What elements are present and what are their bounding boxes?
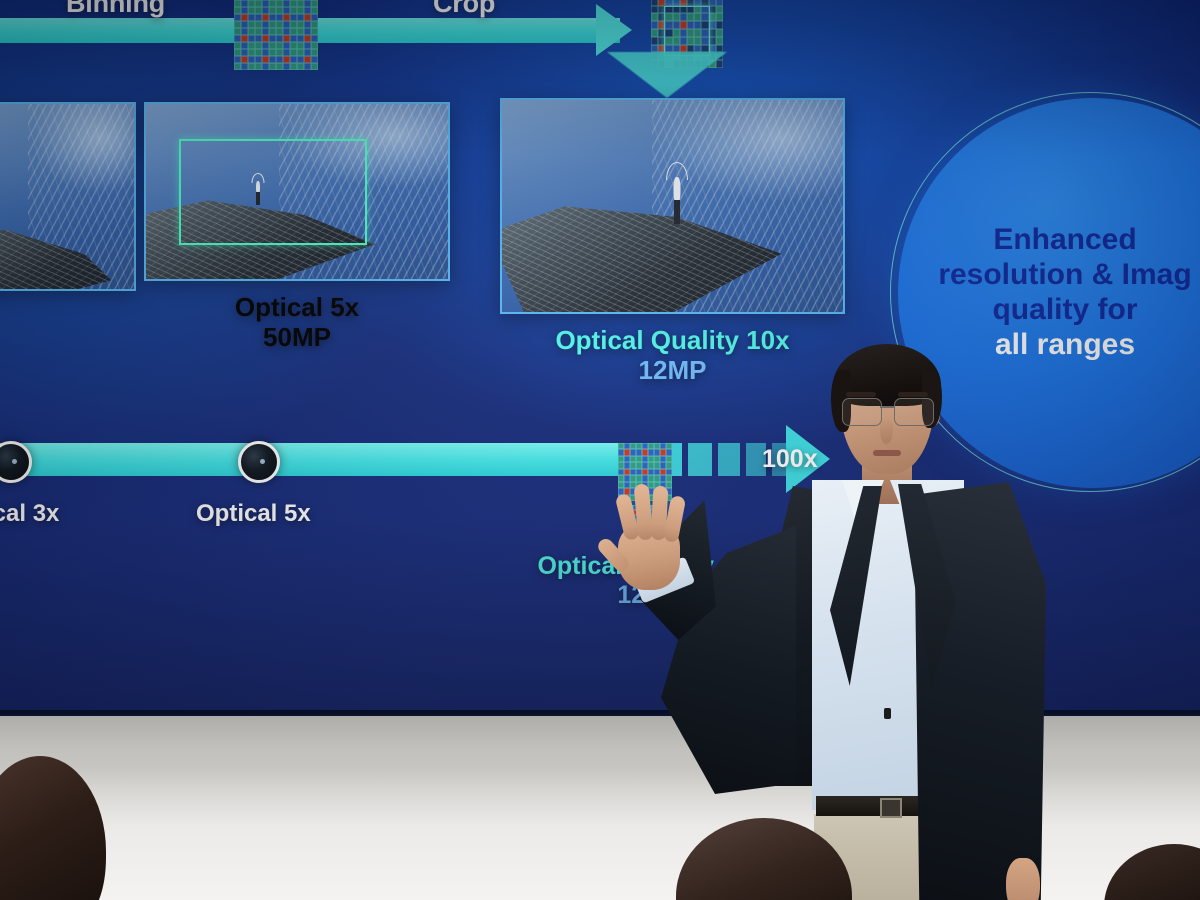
sensor-pixel: [290, 42, 297, 49]
sensor-pixel: [234, 21, 241, 28]
sensor-pixel: [241, 63, 248, 70]
zoom-tick-label-5x: Optical 5x: [196, 500, 311, 528]
sensor-pixel: [297, 63, 304, 70]
caption-line-1: Optical 5x: [144, 292, 450, 322]
sensor-pixel: [255, 7, 262, 14]
sensor-pixel: [297, 56, 304, 63]
sensor-pixel: [276, 14, 283, 21]
sensor-pixel: [311, 49, 318, 56]
sensor-pixel: [241, 42, 248, 49]
figure-legs: [674, 200, 680, 224]
lapel-mic-icon: [884, 708, 891, 719]
sensor-pixel: [276, 42, 283, 49]
hand-right: [1006, 858, 1040, 900]
sensor-pixel: [651, 6, 658, 14]
sensor-pixel: [290, 63, 297, 70]
sensor-pixel: [311, 0, 318, 7]
sensor-pixel: [716, 29, 723, 37]
sensor-pixel: [297, 7, 304, 14]
sensor-pixel: [297, 28, 304, 35]
yoga-figure: [662, 164, 692, 224]
sensor-pixel: [269, 7, 276, 14]
photo-frame: [0, 102, 136, 291]
arrow-right-icon: [596, 4, 632, 56]
sensor-pixel: [290, 35, 297, 42]
sensor-pixel: [255, 63, 262, 70]
sensor-pixel: [290, 28, 297, 35]
sensor-pixel: [234, 42, 241, 49]
sensor-pixel: [276, 0, 283, 7]
sensor-pixel: [262, 7, 269, 14]
sensor-pixel: [297, 14, 304, 21]
eyebrow-left: [846, 392, 876, 397]
nose: [880, 418, 893, 444]
zoom-tick-label-3x: tical 3x: [0, 500, 59, 528]
sensor-pixel: [283, 35, 290, 42]
camera-lens-icon: [238, 441, 280, 483]
mouth: [873, 450, 901, 456]
sensor-pixel: [311, 35, 318, 42]
sensor-pixel: [276, 63, 283, 70]
caption-line-2: 50MP: [144, 322, 450, 352]
sensor-pixel: [283, 49, 290, 56]
glasses-lens-right: [894, 398, 934, 426]
sensor-pixel: [290, 7, 297, 14]
sensor-pixel: [276, 35, 283, 42]
glasses-bridge: [880, 406, 894, 408]
eyebrow-right: [898, 392, 928, 397]
sensor-pixel: [283, 21, 290, 28]
sensor-pixel: [304, 21, 311, 28]
cliff-sea-photo: [502, 100, 843, 312]
bayer-sensor-grid-icon: [234, 0, 318, 70]
sensor-pixel: [283, 28, 290, 35]
sensor-pixel: [269, 28, 276, 35]
zoom-range-bar: [0, 443, 634, 476]
sensor-pixel: [290, 49, 297, 56]
sensor-pixel: [651, 29, 658, 37]
sensor-pixel: [241, 21, 248, 28]
sensor-pixel: [651, 37, 658, 45]
sensor-pixel: [248, 7, 255, 14]
sensor-pixel: [262, 56, 269, 63]
sensor-pixel: [234, 28, 241, 35]
sensor-pixel: [248, 42, 255, 49]
raised-hand-icon: [608, 478, 694, 590]
sensor-pixel: [248, 0, 255, 7]
sensor-pixel: [297, 42, 304, 49]
sensor-pixel: [311, 56, 318, 63]
sensor-pixel: [297, 21, 304, 28]
sensor-pixel: [262, 35, 269, 42]
belt-buckle: [880, 798, 902, 818]
sensor-pixel: [269, 14, 276, 21]
sensor-pixel: [311, 63, 318, 70]
photo-caption: Optical 5x 50MP: [144, 292, 450, 352]
sensor-pixel: [283, 14, 290, 21]
sensor-pixel: [262, 28, 269, 35]
sensor-pixel: [255, 0, 262, 7]
sensor-pixel: [311, 14, 318, 21]
photo-frame: [144, 102, 450, 281]
sensor-pixel: [297, 49, 304, 56]
sensor-pixel: [269, 63, 276, 70]
sensor-pixel: [297, 35, 304, 42]
sensor-pixel: [269, 49, 276, 56]
sensor-pixel: [234, 0, 241, 7]
sensor-pixel: [234, 7, 241, 14]
sensor-pixel: [248, 28, 255, 35]
sample-photo-optical-5x: Optical 5x 50MP: [144, 102, 450, 352]
sensor-pixel: [269, 42, 276, 49]
sensor-pixel: [255, 56, 262, 63]
sensor-pixel: [255, 28, 262, 35]
sensor-pixel: [255, 21, 262, 28]
sensor-pixel: [234, 49, 241, 56]
sensor-pixel: [304, 42, 311, 49]
glasses-lens-left: [842, 398, 882, 426]
sensor-pixel: [716, 21, 723, 29]
crop-highlight-box: [664, 6, 710, 56]
sensor-pixel: [241, 28, 248, 35]
sensor-pixel: [651, 13, 658, 21]
presenter: [590, 330, 1090, 900]
sensor-pixel: [283, 0, 290, 7]
sensor-pixel: [276, 21, 283, 28]
sensor-pixel: [304, 63, 311, 70]
sensor-pixel: [234, 35, 241, 42]
sensor-pixel: [255, 35, 262, 42]
sensor-pixel: [304, 28, 311, 35]
crop-selection-box: [179, 139, 367, 245]
callout-line-2: resolution & Imag: [900, 257, 1200, 292]
sensor-pixel: [248, 49, 255, 56]
sensor-pixel: [269, 21, 276, 28]
sensor-pixel: [290, 0, 297, 7]
sensor-pixel: [248, 14, 255, 21]
presentation-photo: Binning Crop: [0, 0, 1200, 900]
sensor-pixel: [290, 14, 297, 21]
sensor-pixel: [311, 7, 318, 14]
sensor-pixel: [241, 49, 248, 56]
cliff-sea-photo: [146, 104, 448, 279]
sensor-pixel: [716, 37, 723, 45]
sensor-pixel: [248, 56, 255, 63]
sensor-pixel: [304, 14, 311, 21]
sensor-pixel: [262, 63, 269, 70]
sensor-pixel: [269, 56, 276, 63]
sensor-pixel: [283, 7, 290, 14]
sensor-pixel: [283, 63, 290, 70]
sensor-pixel: [716, 6, 723, 14]
sensor-pixel: [276, 28, 283, 35]
sensor-pixel: [234, 14, 241, 21]
sensor-pixel: [241, 7, 248, 14]
sample-photo-left: [0, 102, 136, 302]
sensor-pixel: [283, 56, 290, 63]
sensor-pixel: [290, 56, 297, 63]
sensor-pixel: [304, 7, 311, 14]
sensor-pixel: [241, 35, 248, 42]
sensor-pixel: [234, 63, 241, 70]
sensor-pixel: [241, 14, 248, 21]
sensor-pixel: [304, 0, 311, 7]
sensor-pixel: [269, 35, 276, 42]
sensor-pixel: [304, 49, 311, 56]
sensor-pixel: [283, 42, 290, 49]
sensor-pixel: [276, 56, 283, 63]
sensor-pixel: [248, 21, 255, 28]
sensor-pixel: [716, 13, 723, 21]
sensor-pixel: [248, 63, 255, 70]
sensor-pixel: [255, 14, 262, 21]
sensor-pixel: [262, 42, 269, 49]
sensor-pixel: [304, 56, 311, 63]
sensor-pixel: [262, 0, 269, 7]
sensor-pixel: [234, 56, 241, 63]
crop-label: Crop: [433, 0, 495, 19]
sensor-pixel: [241, 0, 248, 7]
cliff-sea-photo: [0, 104, 134, 289]
sensor-pixel: [248, 35, 255, 42]
sensor-pixel: [311, 42, 318, 49]
sensor-pixel: [262, 21, 269, 28]
sensor-pixel: [651, 21, 658, 29]
sensor-pixel: [255, 42, 262, 49]
sensor-pixel: [255, 49, 262, 56]
callout-line-1: Enhanced: [900, 222, 1200, 257]
sensor-pixel: [311, 21, 318, 28]
sensor-pixel: [269, 0, 276, 7]
sensor-pixel: [311, 28, 318, 35]
sensor-pixel: [262, 49, 269, 56]
sensor-pixel: [290, 21, 297, 28]
photo-frame: [500, 98, 845, 314]
sensor-pixel: [262, 14, 269, 21]
sensor-pixel: [241, 56, 248, 63]
sensor-pixel: [297, 0, 304, 7]
binning-label: Binning: [66, 0, 165, 19]
crop-funnel-shape: [607, 52, 727, 98]
sensor-pixel: [276, 7, 283, 14]
sensor-pixel: [276, 49, 283, 56]
sensor-pixel: [304, 35, 311, 42]
callout-line-3: quality for: [900, 292, 1200, 327]
